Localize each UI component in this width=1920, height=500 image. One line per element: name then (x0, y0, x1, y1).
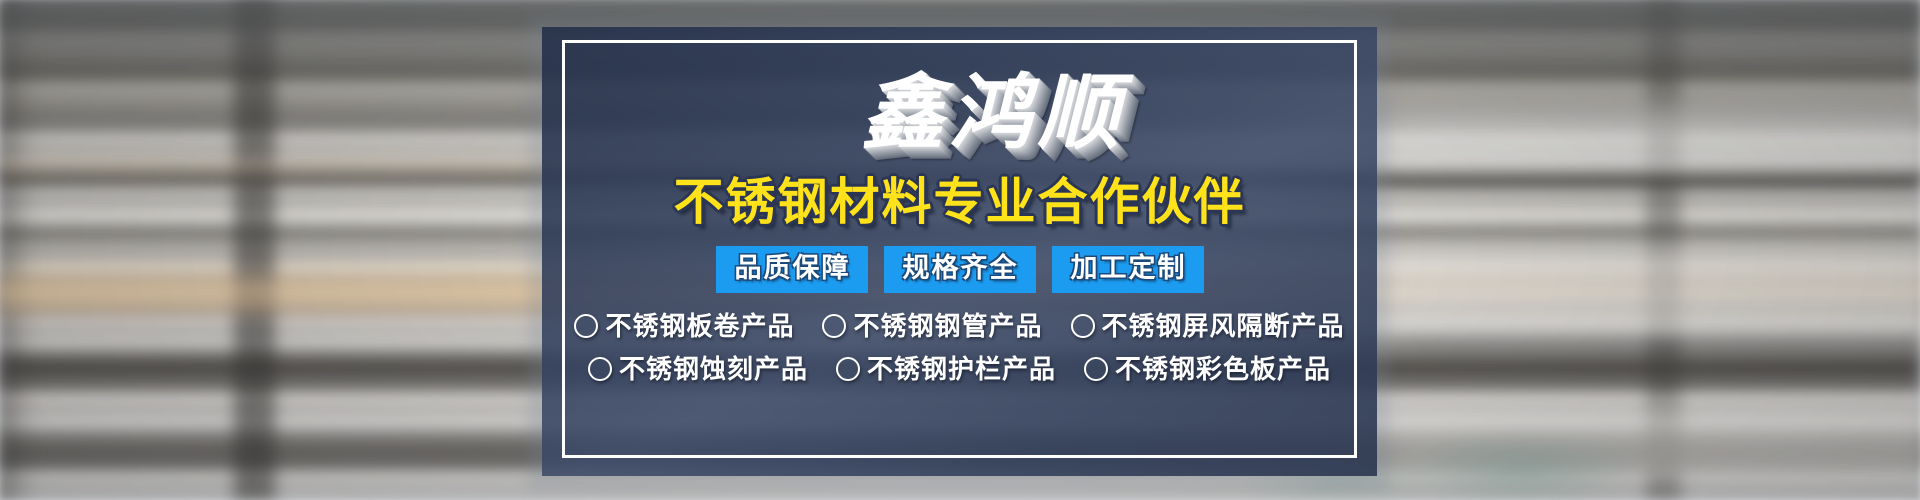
circle-outline-icon (1084, 357, 1108, 381)
circle-outline-icon (1071, 314, 1095, 338)
product-label: 不锈钢护栏产品 (867, 354, 1056, 384)
circle-outline-icon (822, 314, 846, 338)
promo-panel: 鑫鸿顺 不锈钢材料专业合作伙伴 品质保障 规格齐全 加工定制 不锈钢板卷产品 (542, 27, 1377, 476)
product-item-steel-pipe[interactable]: 不锈钢钢管产品 (822, 311, 1042, 341)
product-label: 不锈钢板卷产品 (605, 311, 794, 341)
product-item-sheet-coil[interactable]: 不锈钢板卷产品 (574, 311, 794, 341)
banner-root: 鑫鸿顺 不锈钢材料专业合作伙伴 品质保障 规格齐全 加工定制 不锈钢板卷产品 (0, 0, 1920, 500)
product-row-1: 不锈钢板卷产品 不锈钢钢管产品 不锈钢屏风隔断产品 (574, 311, 1344, 341)
product-list: 不锈钢板卷产品 不锈钢钢管产品 不锈钢屏风隔断产品 不锈钢蚀刻产品 (542, 311, 1377, 384)
product-label: 不锈钢钢管产品 (853, 311, 1042, 341)
circle-outline-icon (836, 357, 860, 381)
tagline-text: 不锈钢材料专业合作伙伴 (542, 173, 1377, 231)
product-item-screen-partition[interactable]: 不锈钢屏风隔断产品 (1071, 311, 1345, 341)
product-item-etching[interactable]: 不锈钢蚀刻产品 (588, 354, 808, 384)
product-item-guardrail[interactable]: 不锈钢护栏产品 (836, 354, 1056, 384)
product-row-2: 不锈钢蚀刻产品 不锈钢护栏产品 不锈钢彩色板产品 (588, 354, 1331, 384)
circle-outline-icon (588, 357, 612, 381)
product-label: 不锈钢彩色板产品 (1115, 354, 1331, 384)
badge-row: 品质保障 规格齐全 加工定制 (542, 246, 1377, 293)
product-item-color-plate[interactable]: 不锈钢彩色板产品 (1084, 354, 1331, 384)
panel-content: 鑫鸿顺 不锈钢材料专业合作伙伴 品质保障 规格齐全 加工定制 不锈钢板卷产品 (542, 27, 1377, 476)
product-label: 不锈钢蚀刻产品 (619, 354, 808, 384)
badge-custom-processing[interactable]: 加工定制 (1052, 246, 1204, 293)
brand-title: 鑫鸿顺 (576, 71, 1411, 157)
badge-quality[interactable]: 品质保障 (716, 246, 868, 293)
circle-outline-icon (574, 314, 598, 338)
product-label: 不锈钢屏风隔断产品 (1102, 311, 1345, 341)
badge-specifications[interactable]: 规格齐全 (884, 246, 1036, 293)
